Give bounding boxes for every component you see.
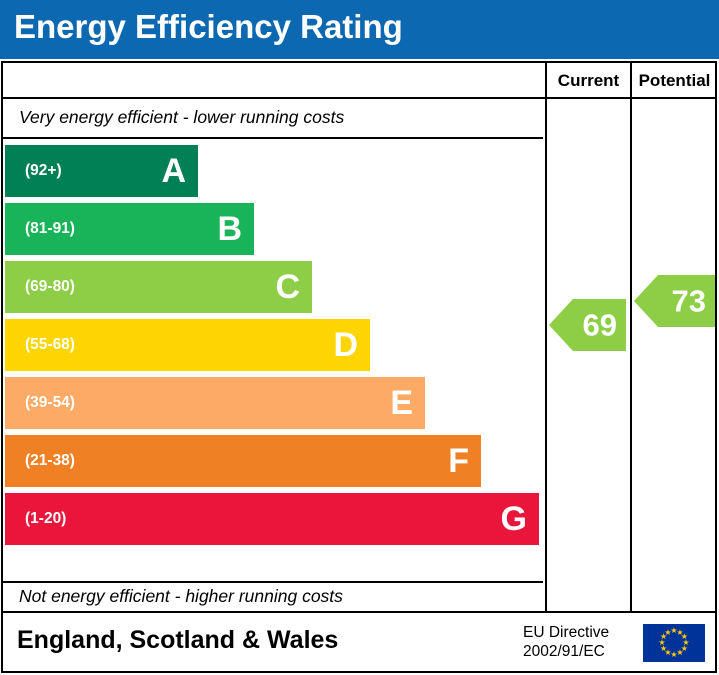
eu-star-icon: ★	[664, 629, 672, 637]
band-f: (21-38) F	[5, 435, 481, 487]
column-header-potential: Potential	[630, 63, 717, 99]
band-a: (92+) A	[5, 145, 198, 197]
band-c: (69-80) C	[5, 261, 312, 313]
band-a-range: (92+)	[25, 162, 62, 180]
column-divider-potential	[630, 99, 632, 613]
band-d-letter: D	[333, 328, 358, 362]
band-d: (55-68) D	[5, 319, 370, 371]
footer-directive-line1: EU Directive	[523, 623, 609, 642]
potential-rating-marker: 73	[634, 271, 715, 331]
page-title: Energy Efficiency Rating	[14, 8, 403, 46]
current-rating-value: 69	[583, 310, 617, 341]
band-g-range: (1-20)	[25, 510, 66, 528]
epc-certificate-graphic: Energy Efficiency Rating Current Potenti…	[0, 0, 719, 675]
band-e: (39-54) E	[5, 377, 425, 429]
potential-rating-value: 73	[672, 286, 706, 317]
band-e-letter: E	[390, 386, 413, 420]
caption-bottom: Not energy efficient - higher running co…	[19, 586, 343, 607]
band-c-letter: C	[275, 270, 300, 304]
footer-region-label: England, Scotland & Wales	[17, 626, 338, 655]
band-g-letter: G	[501, 502, 527, 536]
eu-flag-icon: ★★★★★★★★★★★★	[643, 624, 705, 662]
band-b: (81-91) B	[5, 203, 254, 255]
footer-directive-line2: 2002/91/EC	[523, 642, 609, 661]
caption-bottom-rule	[3, 581, 543, 583]
band-c-range: (69-80)	[25, 278, 75, 296]
band-a-letter: A	[161, 154, 186, 188]
band-f-range: (21-38)	[25, 452, 75, 470]
column-header-row: Current Potential	[3, 63, 715, 99]
band-e-range: (39-54)	[25, 394, 75, 412]
footer-directive: EU Directive 2002/91/EC	[523, 623, 609, 661]
band-b-range: (81-91)	[25, 220, 75, 238]
caption-top: Very energy efficient - lower running co…	[19, 107, 344, 128]
rating-bands: (92+) A (81-91) B (69-80) C (55-68) D (3…	[5, 139, 543, 581]
band-b-letter: B	[217, 212, 242, 246]
chart-title-bar: Energy Efficiency Rating	[0, 0, 719, 59]
band-d-range: (55-68)	[25, 336, 75, 354]
band-f-letter: F	[448, 444, 469, 478]
current-rating-marker: 69	[549, 295, 626, 355]
column-divider-current	[545, 99, 547, 613]
band-g: (1-20) G	[5, 493, 539, 545]
chart-footer: England, Scotland & Wales EU Directive 2…	[1, 613, 717, 673]
column-header-current: Current	[545, 63, 630, 99]
chart-frame: Current Potential Very energy efficient …	[1, 61, 717, 613]
